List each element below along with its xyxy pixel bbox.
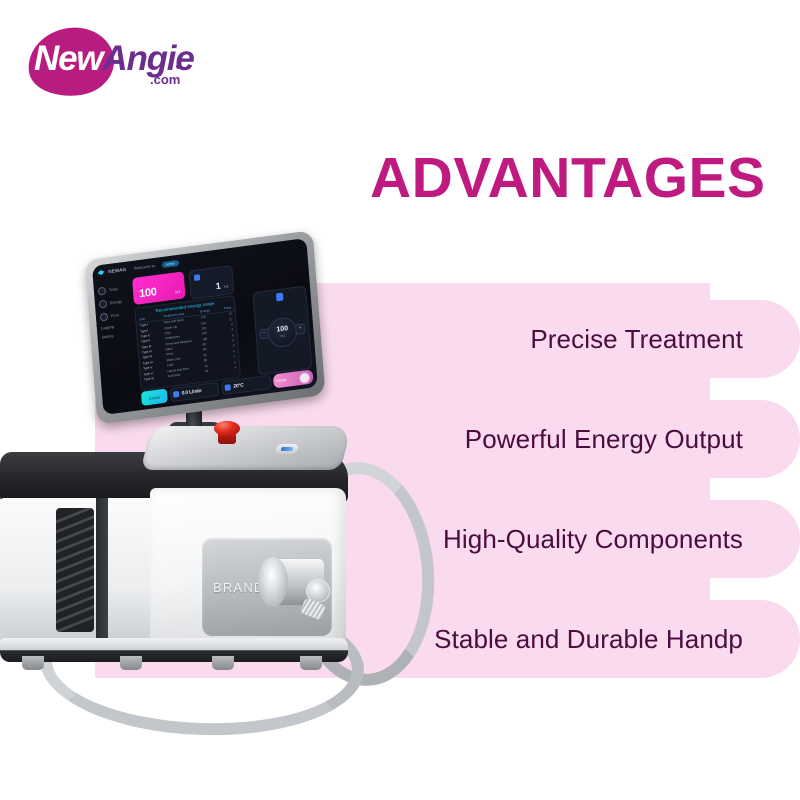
ui-pulse-value: 1 [215,281,221,292]
ui-dial-panel: − 100 mJ + [252,285,312,375]
treat-icon [98,286,107,295]
brand-logo: NewAngie .com [22,26,212,98]
machine-base-plinth [0,638,348,662]
ui-pulse-unit: Hz [224,284,229,290]
handpiece-assembly [258,545,336,627]
advantage-label-2: Powerful Energy Output [465,424,743,455]
ui-ready-label: Ready [276,378,287,383]
ui-energy-table: Recommended energy range Skin Treatment … [134,295,241,391]
poster-canvas: NewAngie .com ADVANTAGES Precise Treatme… [0,0,800,800]
ui-table-body: Type IFace and Neck12010Type IUpper Lip1… [137,310,240,382]
ui-nav-label-treat: Treat [109,287,118,292]
ui-energy-value: 100 [139,286,157,300]
ui-brand-label: NEWAG [108,267,126,274]
page-title: ADVANTAGES [370,150,770,207]
logo-wordmark: NewAngie [34,41,194,76]
handpiece-head [258,557,288,607]
advantage-label-4: Stable and Durable Handp [434,624,743,655]
dial-panel-icon [276,293,284,302]
machine-vent-grille [56,508,94,632]
ui-table-cell: 4 [223,365,236,371]
ui-energy-unit: mJ [175,289,181,295]
ui-dial-unit: mJ [280,334,285,339]
ready-toggle-knob [299,371,311,383]
logo-dot-accent [176,64,181,69]
machine-foot [22,656,44,670]
brand-plate-text: BRAND [213,580,265,595]
dial-increase-button[interactable]: + [295,323,306,334]
ui-col-pulse: Pulse [218,305,231,311]
ui-table-cell: 70 [205,367,224,373]
ui-energy-card[interactable]: 100 mJ [132,271,186,305]
ui-nav-label-pure: Pure [111,313,119,318]
logo-word-new: New [34,39,102,78]
flow-icon [172,391,178,398]
logo-suffix-dotcom: .com [150,72,180,87]
pure-icon [100,313,109,322]
machine-foot [120,656,142,670]
ui-nav-label-setting: Setting [101,334,113,340]
key-switch[interactable] [275,444,299,454]
ui-welcome-label: Welcome to [134,263,155,271]
ui-flow-value: 0.0 L/min [181,388,201,397]
machine-ui: NEWAG Welcome to admin Treat Energy [92,238,318,415]
machine-foot [300,656,322,670]
ui-count-button[interactable]: Count [141,389,168,406]
ui-logo-icon [97,270,104,276]
advantage-label-1: Precise Treatment [530,324,743,355]
machine-foot [212,656,234,670]
ui-main-area: 100 mJ 1 Hz Recommended energy range Ski… [129,253,316,408]
estop-cap [214,421,240,436]
temperature-icon [224,384,230,391]
ui-nav-label-logging: Logging [101,325,115,331]
ui-dial-value: 100 [276,325,288,334]
laser-machine-illustration: NEWAG Welcome to admin Treat Energy [0,240,420,670]
touchscreen-display: NEWAG Welcome to admin Treat Energy [85,230,326,425]
ui-pulse-card[interactable]: 1 Hz [189,265,235,300]
ui-energy-dial[interactable]: 100 mJ [267,316,298,349]
machine-top-plate [141,426,352,470]
ui-user-chip[interactable]: admin [162,259,180,267]
screen-glass: NEWAG Welcome to admin Treat Energy [92,238,318,415]
ui-nav-label-energy: Energy [110,299,122,305]
machine-corner-edge [96,498,108,648]
energy-icon [99,299,108,308]
advantage-label-3: High-Quality Components [443,524,743,555]
ui-temp-value: 20°C [233,382,244,389]
emergency-stop-button[interactable] [214,421,240,445]
pulse-card-icon [194,274,200,281]
